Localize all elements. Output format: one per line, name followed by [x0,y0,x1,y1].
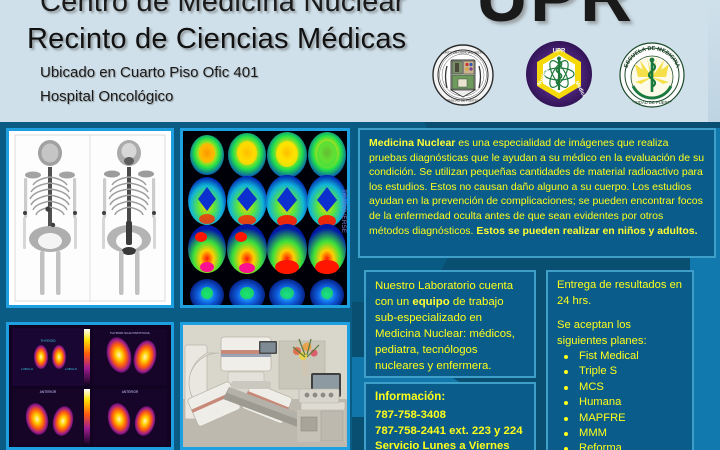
svg-text:THYROID SCAN PROTOCOL: THYROID SCAN PROTOCOL [110,331,151,335]
address-line-2: Hospital Oncológico [40,88,173,105]
accepted-plans-title: Se aceptan los siguientes planes: [557,318,684,349]
svg-text:THYROID: THYROID [40,339,56,343]
plans-textbox: Entrega de resultados en 24 hrs. Se acep… [546,270,694,450]
rcm-seal-logo: RECINTO DE CIENCIAS MEDICAS UNIVERSIDAD … [432,44,494,106]
poster-root: Centro de Medicina Nuclear Recinto de Ci… [0,0,720,450]
nuclear-medicine-icon: UPR Nuclear Medicine [525,40,593,108]
lab-bold: equipo [412,296,449,308]
rcm-seal-icon: RECINTO DE CIENCIAS MEDICAS UNIVERSIDAD … [432,44,494,106]
intro-lead: Medicina Nuclear [369,137,455,149]
intro-body: es una especialidad de imágenes que real… [369,137,704,237]
page-title: Centro de Medicina Nuclear [40,0,405,19]
upr-nuclear-medicine-logo: UPR Nuclear Medicine [525,40,593,108]
list-item: MMM [557,426,684,441]
svg-text:LOBULO: LOBULO [21,367,34,371]
pet-brain-scan-image: TRANSVERSE [180,128,350,308]
brand-wordmark: UPR [476,0,634,38]
laboratory-textbox: Nuestro Laboratorio cuenta con un equipo… [364,270,536,378]
bone-scan-graphic [9,131,171,305]
laboratory-paragraph: Nuestro Laboratorio cuenta con un equipo… [375,278,526,374]
gamma-camera-photo [180,322,350,450]
list-item: Reforma [557,441,684,450]
pet-brain-graphic: TRANSVERSE [183,131,347,305]
thyroid-scan-graphic: THYROID LOBULO LOBULO THYROID SCAN PROTO… [9,325,171,447]
svg-text:UPR: UPR [553,49,566,55]
phone-secondary[interactable]: 787-758-2441 ext. 223 y 224 [375,424,526,440]
informacion-textbox: Información: 787-758-3408 787-758-2441 e… [364,382,536,450]
intro-paragraph: Medicina Nuclear es una especialidad de … [369,136,706,238]
page-subtitle: Recinto de Ciencias Médicas [27,23,406,56]
svg-text:UNIVERSIDAD DE PUERTO RICO: UNIVERSIDAD DE PUERTO RICO [619,100,685,105]
escuela-de-medicina-logo: ESCUELA DE MEDICINA UNI [619,42,685,108]
list-item: Fist Medical [557,349,684,364]
svg-text:UNIVERSIDAD DE PUERTO RICO: UNIVERSIDAD DE PUERTO RICO [439,99,488,103]
thyroid-scan-image: THYROID LOBULO LOBULO THYROID SCAN PROTO… [6,322,174,450]
list-item: Humana [557,395,684,410]
intro-emphasis: Estos se pueden realizar en niños y adul… [476,225,697,237]
svg-text:ANTERIOR: ANTERIOR [122,390,139,394]
header: Centro de Medicina Nuclear Recinto de Ci… [0,0,720,122]
address-line-1: Ubicado en Cuarto Piso Ofic 401 [40,64,258,81]
service-hours: Servicio Lunes a Viernes [375,439,526,450]
list-item: Triple S [557,364,684,379]
intro-textbox: Medicina Nuclear es una especialidad de … [358,128,716,258]
list-item: MAPFRE [557,411,684,426]
svg-text:LOBULO: LOBULO [65,367,78,371]
list-item: MCS [557,380,684,395]
header-right-band [708,0,720,122]
svg-text:RECINTO DE CIENCIAS MEDICAS: RECINTO DE CIENCIAS MEDICAS [438,51,487,55]
accepted-plans-list: Fist Medical Triple S MCS Humana MAPFRE … [557,349,684,450]
gamma-camera-graphic [183,325,347,447]
delivery-note: Entrega de resultados en 24 hrs. [557,278,684,309]
plans-spacer [557,309,684,318]
pet-side-label: TRANSVERSE [340,189,347,234]
escuela-medicina-icon: ESCUELA DE MEDICINA UNI [619,42,685,108]
informacion-title: Información: [375,390,526,403]
svg-text:ANTERIOR: ANTERIOR [40,390,57,394]
bone-scan-image [6,128,174,308]
phone-primary[interactable]: 787-758-3408 [375,408,526,424]
